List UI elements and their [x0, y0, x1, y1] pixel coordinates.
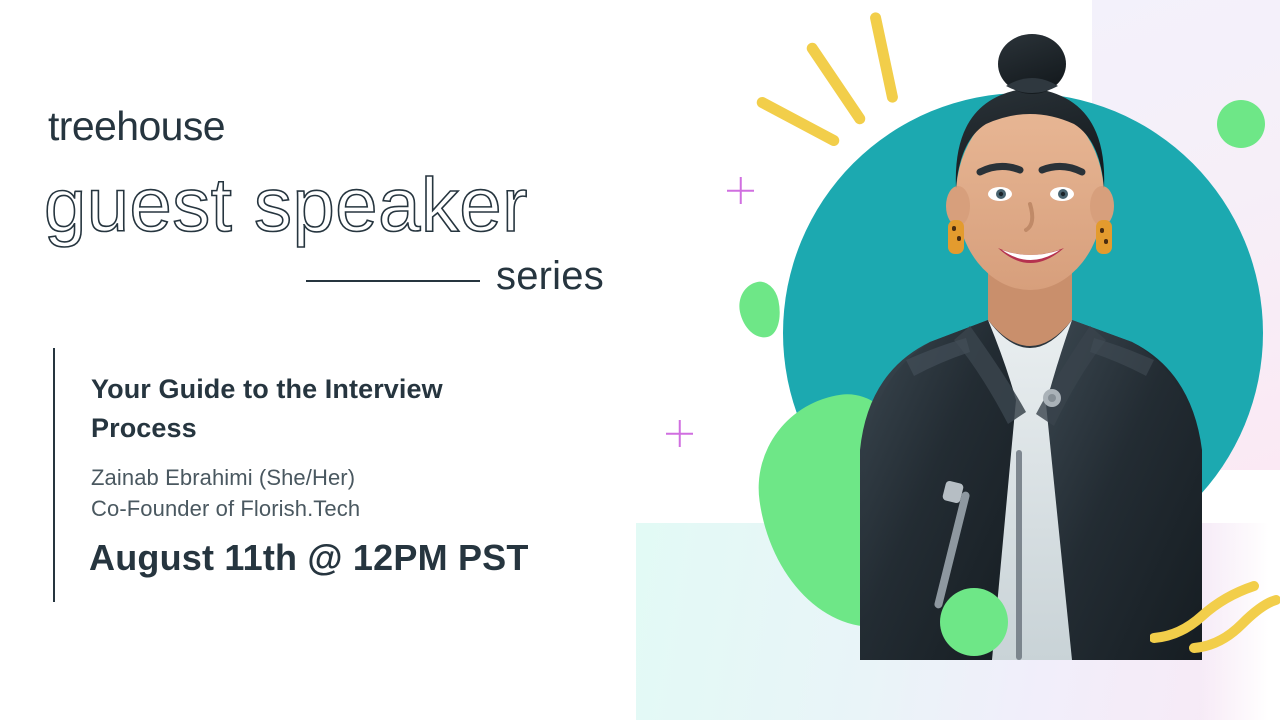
headline-outline-text: guest speaker — [44, 168, 528, 244]
event-datetime: August 11th @ 12PM PST — [89, 536, 529, 579]
green-circle-bottom-icon — [940, 588, 1008, 656]
yellow-wave-lines-icon — [1150, 580, 1280, 705]
brand-wordmark: treehouse — [48, 106, 225, 147]
talk-title: Your Guide to the Interview Process — [91, 370, 531, 448]
magenta-plus-icon — [666, 420, 693, 447]
green-circle-top-right-icon — [1217, 100, 1265, 148]
series-divider-rule — [306, 280, 480, 282]
left-vertical-rule — [53, 348, 55, 602]
promo-slide: treehouse guest speaker series Your Guid… — [0, 0, 1280, 720]
speaker-portrait — [820, 20, 1240, 660]
speaker-name: Zainab Ebrahimi (She/Her) — [91, 461, 355, 494]
magenta-plus-icon — [727, 177, 754, 204]
green-blob-small-icon — [735, 278, 786, 341]
speaker-role: Co-Founder of Florish.Tech — [91, 492, 360, 525]
series-label: series — [496, 256, 604, 296]
